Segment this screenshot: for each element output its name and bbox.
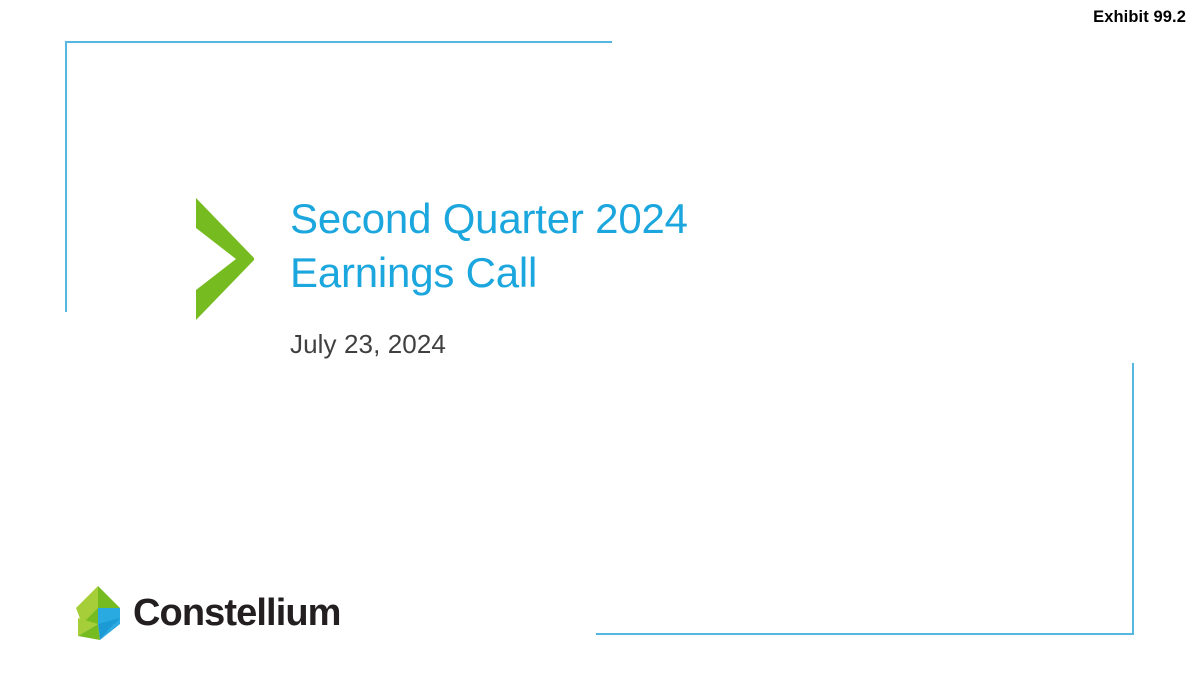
company-logo: Constellium bbox=[74, 584, 341, 642]
bottom-right-bracket-vertical-line bbox=[1132, 363, 1134, 635]
presentation-slide: Exhibit 99.2 Second Quarter 2024 Earning… bbox=[0, 0, 1200, 675]
slide-date: July 23, 2024 bbox=[290, 328, 688, 360]
logo-wordmark: Constellium bbox=[133, 594, 341, 632]
constellium-diamond-logo-icon bbox=[74, 584, 124, 642]
top-left-bracket-vertical-line bbox=[65, 41, 67, 312]
top-left-bracket-horizontal-line bbox=[65, 41, 612, 43]
title-text-wrapper: Second Quarter 2024 Earnings Call July 2… bbox=[290, 192, 688, 360]
title-block: Second Quarter 2024 Earnings Call July 2… bbox=[196, 192, 688, 360]
bottom-right-bracket-horizontal-line bbox=[596, 633, 1134, 635]
exhibit-label: Exhibit 99.2 bbox=[1093, 8, 1186, 27]
chevron-right-icon bbox=[196, 198, 254, 320]
page-title: Second Quarter 2024 Earnings Call bbox=[290, 192, 688, 300]
